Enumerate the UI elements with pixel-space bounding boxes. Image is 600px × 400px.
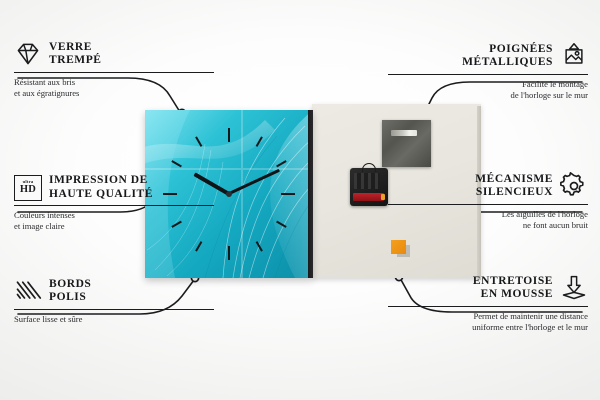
- feature-description: Facilite le montage de l'horloge sur le …: [388, 79, 588, 100]
- ultra-hd-icon: ultra HD: [14, 175, 42, 201]
- movement-detail: [354, 173, 380, 189]
- hour-marker: [228, 128, 230, 194]
- divider: [14, 205, 214, 206]
- hour-marker: [229, 193, 295, 195]
- feature-title: ENTRETOISE EN MOUSSE: [473, 275, 553, 302]
- feature-impression-haute-qualite: ultra HD IMPRESSION DE HAUTE QUALITÉ Cou…: [14, 174, 214, 231]
- feature-description: Permet de maintenir une distance uniform…: [388, 311, 588, 332]
- feature-description: Résistant aux bris et aux égratignures: [14, 77, 214, 98]
- metal-hanger-plate: [382, 120, 431, 167]
- infographic-stage: VERRE TREMPÉ Résistant aux bris et aux é…: [0, 0, 600, 400]
- feature-header: VERRE TREMPÉ: [14, 40, 214, 68]
- foam-spacer-icon: [560, 274, 588, 302]
- hour-marker: [228, 194, 230, 260]
- diamond-icon: [14, 40, 42, 68]
- hanger-keyhole-slot: [391, 130, 417, 136]
- feature-title: POIGNÉES MÉTALLIQUES: [462, 43, 553, 70]
- feature-header: ultra HD IMPRESSION DE HAUTE QUALITÉ: [14, 174, 214, 201]
- feature-header: ENTRETOISE EN MOUSSE: [388, 274, 588, 302]
- gear-icon: [560, 172, 588, 200]
- divider: [14, 72, 214, 73]
- divider: [388, 306, 588, 307]
- aa-battery: [353, 193, 384, 201]
- feature-title: VERRE TREMPÉ: [49, 41, 102, 68]
- orange-foam-spacer: [391, 240, 406, 254]
- hanging-frame-icon: [560, 42, 588, 70]
- polished-edges-icon: [14, 277, 42, 305]
- clock-movement-box: [350, 168, 388, 206]
- feature-entretoise-en-mousse: ENTRETOISE EN MOUSSE Permet de maintenir…: [388, 274, 588, 332]
- feature-header: BORDS POLIS: [14, 277, 214, 305]
- feature-header: POIGNÉES MÉTALLIQUES: [388, 42, 588, 70]
- ultra-hd-icon-main-label: HD: [20, 185, 36, 196]
- feature-description: Surface lisse et sûre: [14, 314, 214, 325]
- divider: [14, 309, 214, 310]
- feature-mecanisme-silencieux: MÉCANISME SILENCIEUX Les aiguilles de l'…: [388, 172, 588, 230]
- feature-title: IMPRESSION DE HAUTE QUALITÉ: [49, 174, 153, 201]
- divider: [388, 74, 588, 75]
- hands-center-cap: [226, 191, 232, 197]
- movement-hanging-loop: [362, 163, 376, 172]
- feature-description: Les aiguilles de l'horloge ne font aucun…: [388, 209, 588, 230]
- feature-header: MÉCANISME SILENCIEUX: [388, 172, 588, 200]
- feature-bords-polis: BORDS POLIS Surface lisse et sûre: [14, 277, 214, 325]
- feature-verre-trempe: VERRE TREMPÉ Résistant aux bris et aux é…: [14, 40, 214, 98]
- feature-poignees-metalliques: POIGNÉES MÉTALLIQUES Facilite le montage…: [388, 42, 588, 100]
- feature-title: MÉCANISME SILENCIEUX: [475, 173, 553, 200]
- feature-title: BORDS POLIS: [49, 278, 91, 305]
- feature-description: Couleurs intenses et image claire: [14, 210, 214, 231]
- divider: [388, 204, 588, 205]
